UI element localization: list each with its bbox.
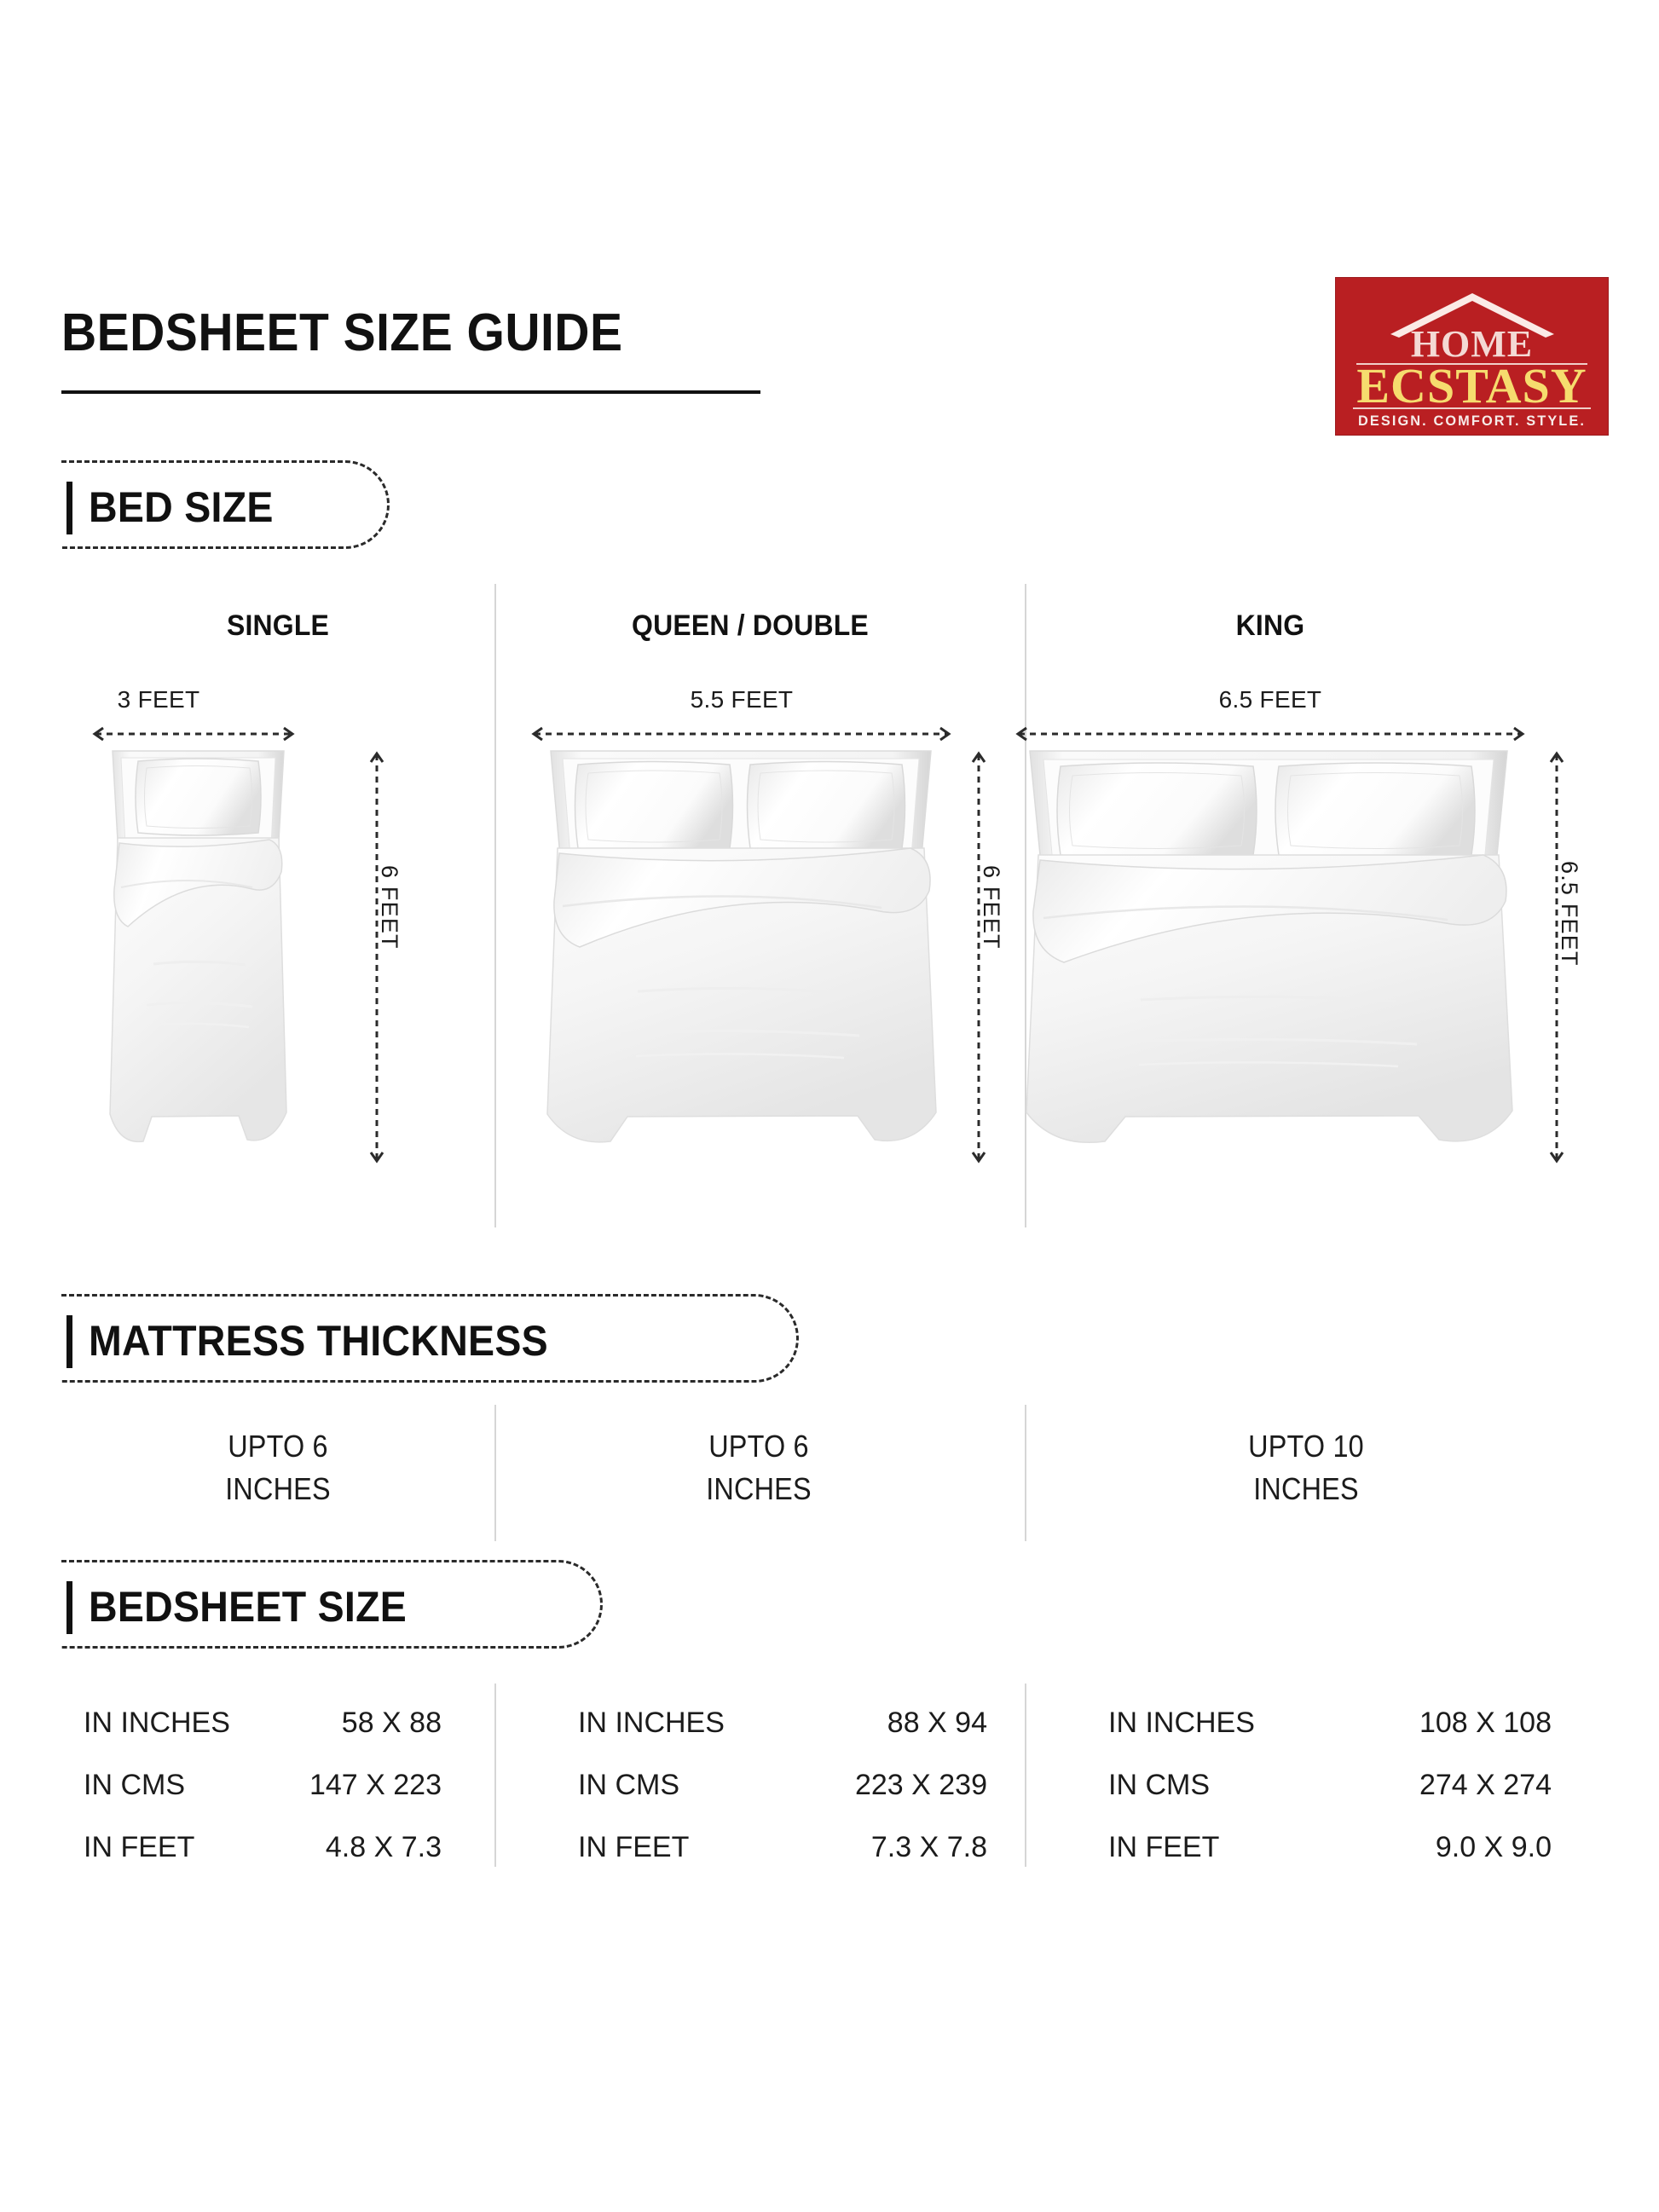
bed-column-title: SINGLE [74,609,482,643]
bedsheet-table-king: IN INCHES 108 X 108 IN CMS 274 X 274 IN … [1108,1692,1552,1879]
thickness-line-2: INCHES [536,1468,981,1510]
thickness-line-1: UPTO 10 [1068,1425,1544,1468]
row-key: IN INCHES [1108,1707,1255,1740]
row-key: IN CMS [578,1769,679,1802]
row-key: IN INCHES [578,1707,725,1740]
thickness-line-1: UPTO 6 [83,1425,472,1468]
bed-width-label: 6.5 FEET [1006,686,1535,713]
width-arrow-icon [87,725,300,742]
bedsheet-size-guide-page: BEDSHEET SIZE GUIDE HOME ECSTASY DESIGN.… [0,0,1659,2212]
bed-size-pill: BED SIZE [61,460,390,549]
bedsheet-size-label: BEDSHEET SIZE [89,1577,407,1637]
bedsheet-divider-2 [1025,1684,1026,1867]
mattress-thickness-king: UPTO 10 INCHES [1068,1425,1544,1510]
table-row: IN INCHES 108 X 108 [1108,1692,1552,1754]
row-value: 147 X 223 [309,1769,442,1802]
bed-illustration-queen [535,744,946,1172]
bed-width-label: 3 FEET [0,686,375,713]
table-row: IN FEET 9.0 X 9.0 [1108,1816,1552,1879]
row-value: 108 X 108 [1419,1707,1552,1740]
brand-logo: HOME ECSTASY DESIGN. COMFORT. STYLE. [1335,277,1609,436]
table-row: IN FEET 7.3 X 7.8 [578,1816,987,1879]
table-row: IN CMS 274 X 274 [1108,1754,1552,1816]
table-row: IN FEET 4.8 X 7.3 [84,1816,442,1879]
bed-length-label: 6 FEET [376,865,402,950]
thickness-divider-2 [1025,1405,1026,1541]
thickness-line-2: INCHES [83,1468,472,1510]
logo-tagline: DESIGN. COMFORT. STYLE. [1341,411,1602,431]
bed-column-queen: QUEEN / DOUBLE 5.5 FEET [512,609,1023,1232]
bed-column-title: KING [1022,609,1519,643]
width-arrow-icon [526,725,957,742]
bed-illustration-single [102,744,294,1172]
table-row: IN INCHES 58 X 88 [84,1692,442,1754]
thickness-divider-1 [494,1405,496,1541]
bed-illustration-king [1013,744,1524,1172]
bed-column-title: QUEEN / DOUBLE [510,609,991,643]
row-value: 4.8 X 7.3 [326,1831,442,1864]
row-key: IN CMS [84,1769,185,1802]
title-underline [61,390,760,394]
mattress-thickness-single: UPTO 6 INCHES [83,1425,472,1510]
bedsheet-table-single: IN INCHES 58 X 88 IN CMS 147 X 223 IN FE… [84,1692,442,1879]
row-key: IN FEET [84,1831,194,1864]
table-row: IN CMS 147 X 223 [84,1754,442,1816]
thickness-line-1: UPTO 6 [536,1425,981,1468]
row-key: IN CMS [1108,1769,1210,1802]
mattress-thickness-label: MATTRESS THICKNESS [89,1311,548,1371]
row-value: 88 X 94 [887,1707,987,1740]
row-value: 9.0 X 9.0 [1436,1831,1552,1864]
bedsheet-table-queen: IN INCHES 88 X 94 IN CMS 223 X 239 IN FE… [578,1692,987,1879]
bed-column-king: KING 6.5 FEET [1040,609,1607,1232]
mattress-thickness-queen: UPTO 6 INCHES [536,1425,981,1510]
bed-length-label: 6 FEET [978,865,1004,950]
mattress-thickness-accent-bar [66,1315,72,1368]
width-arrow-icon [1010,725,1530,742]
thickness-line-2: INCHES [1068,1468,1544,1510]
bed-length-label: 6.5 FEET [1556,861,1582,967]
bedsheet-size-accent-bar [66,1581,72,1634]
bed-width-label: 5.5 FEET [494,686,989,713]
table-row: IN CMS 223 X 239 [578,1754,987,1816]
mattress-thickness-pill: MATTRESS THICKNESS [61,1294,799,1383]
bedsheet-divider-1 [494,1684,496,1867]
logo-ecstasy-text: ECSTASY [1336,361,1608,411]
bedsheet-size-pill: BEDSHEET SIZE [61,1560,603,1649]
page-title: BEDSHEET SIZE GUIDE [61,307,622,360]
bed-size-accent-bar [66,482,72,534]
length-arrow-icon [970,746,987,1169]
row-key: IN INCHES [84,1707,230,1740]
row-value: 223 X 239 [855,1769,987,1802]
table-row: IN INCHES 88 X 94 [578,1692,987,1754]
row-key: IN FEET [1108,1831,1219,1864]
length-arrow-icon [368,746,385,1169]
bedsheet-size-section-header: BEDSHEET SIZE [0,1560,1659,1649]
mattress-thickness-section-header: MATTRESS THICKNESS [0,1294,1659,1383]
row-value: 274 X 274 [1419,1769,1552,1802]
bed-size-label: BED SIZE [89,477,274,537]
bed-size-section-header: BED SIZE [0,460,1659,549]
row-value: 7.3 X 7.8 [871,1831,987,1864]
row-value: 58 X 88 [342,1707,442,1740]
row-key: IN FEET [578,1831,689,1864]
column-divider-1 [494,584,496,1227]
bed-column-single: SINGLE 3 FEET [61,609,494,1232]
logo-divider-bottom [1353,407,1591,409]
